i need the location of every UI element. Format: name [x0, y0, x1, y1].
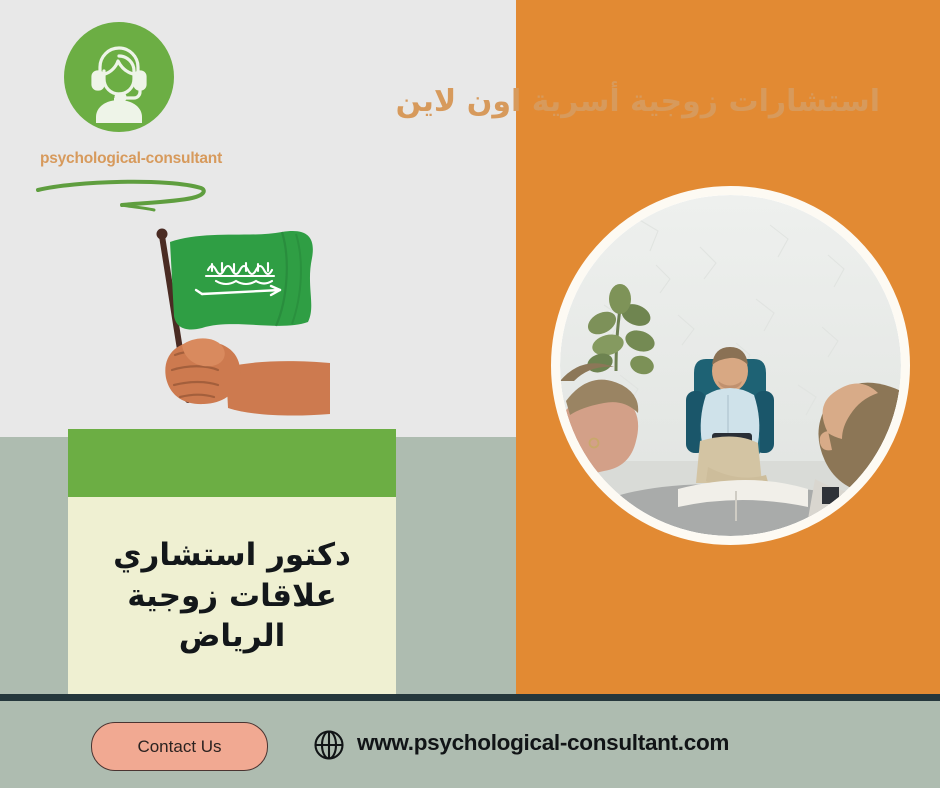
contact-us-button[interactable]: Contact Us: [91, 722, 268, 771]
globe-icon: [313, 729, 345, 761]
title-card: دكتور استشاري علاقات زوجية الرياض: [68, 429, 396, 695]
footer-divider: [0, 694, 940, 701]
headline-arabic: استشارات زوجية أسرية اون لاين: [320, 83, 880, 121]
hand-holding-saudi-flag-icon: [130, 218, 340, 423]
photo-inner: [560, 195, 901, 536]
title-card-body: دكتور استشاري علاقات زوجية الرياض: [68, 497, 396, 695]
couples-therapy-photo: [551, 186, 910, 545]
headset-support-agent-icon: [64, 22, 174, 132]
title-card-green-bar: [68, 429, 396, 497]
website-url[interactable]: www.psychological-consultant.com: [357, 730, 729, 756]
page-title: دكتور استشاري علاقات زوجية الرياض: [68, 535, 396, 658]
brand-logo[interactable]: psychological-consultant: [16, 22, 246, 202]
banner-canvas: psychological-consultant استشارات زوجية …: [0, 0, 940, 788]
brand-logo-text: psychological-consultant: [16, 150, 246, 168]
swoosh-underline-icon: [34, 172, 214, 217]
